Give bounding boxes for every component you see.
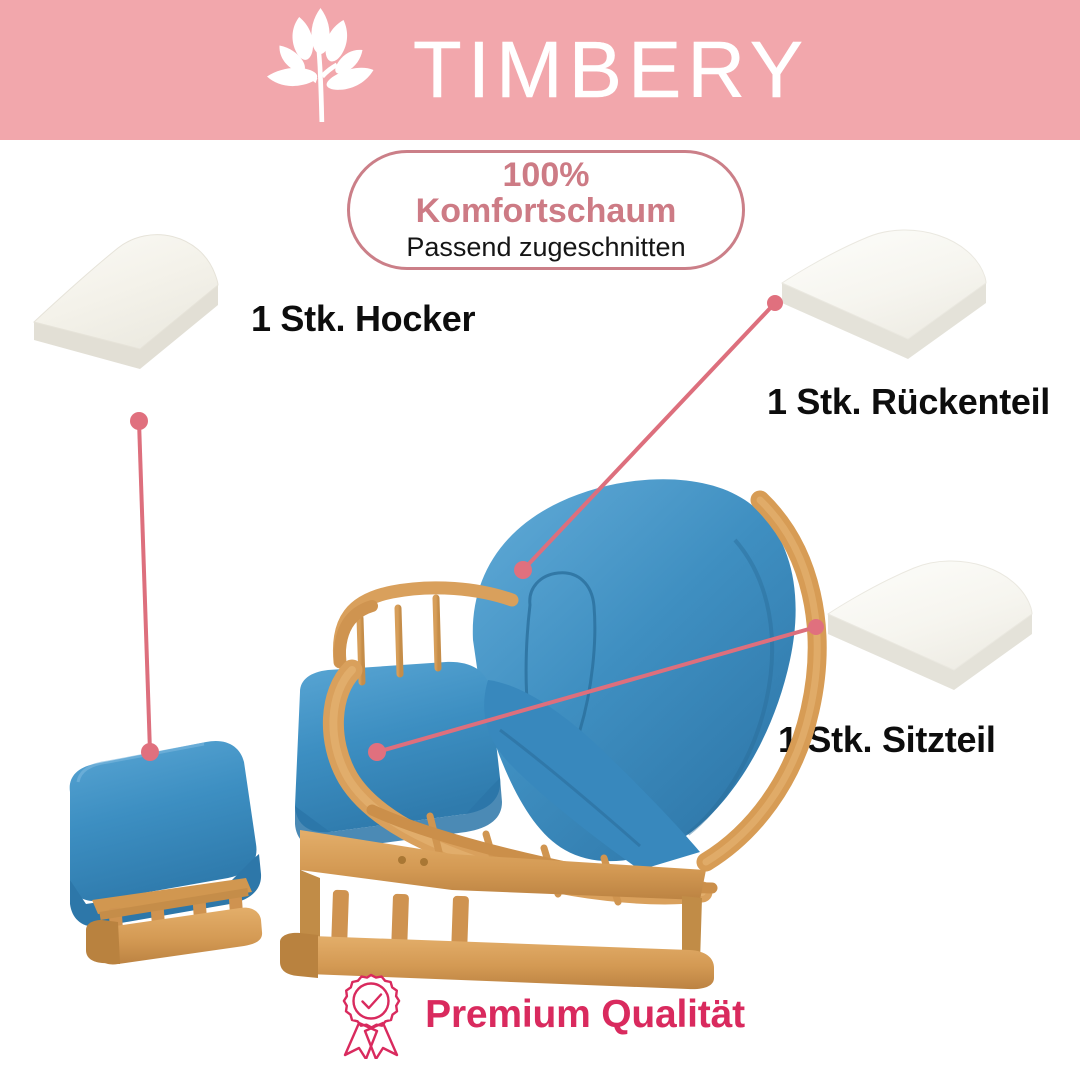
badge-subtitle: Passend zugeschnitten [406,231,685,263]
part-label-rueckenteil: 1 Stk. Rückenteil [767,381,1050,423]
product-infographic: TIMBERY 100% Komfortschaum Passend zuges… [0,0,1080,1080]
premium-quality-label: Premium Qualität [425,993,745,1037]
award-rosette-icon [335,971,407,1059]
badge-percent: 100% [503,158,590,194]
glider-chair [280,479,817,989]
connector-dot-hocker-foam [130,412,148,430]
product-photo [0,430,1080,960]
brand-lockup: TIMBERY [255,4,809,136]
tree-icon [255,4,387,136]
part-label-hocker: 1 Stk. Hocker [251,298,475,340]
brand-name: TIMBERY [413,30,809,110]
premium-quality-badge: Premium Qualität [0,965,1080,1065]
badge-foam-label: Komfortschaum [416,194,677,230]
ottoman-stool [70,741,262,964]
komfortschaum-badge: 100% Komfortschaum Passend zugeschnitten [347,150,745,270]
foam-slab-hocker [22,222,234,370]
brand-header: TIMBERY [0,0,1080,140]
foam-slab-rueckenteil [776,225,994,361]
